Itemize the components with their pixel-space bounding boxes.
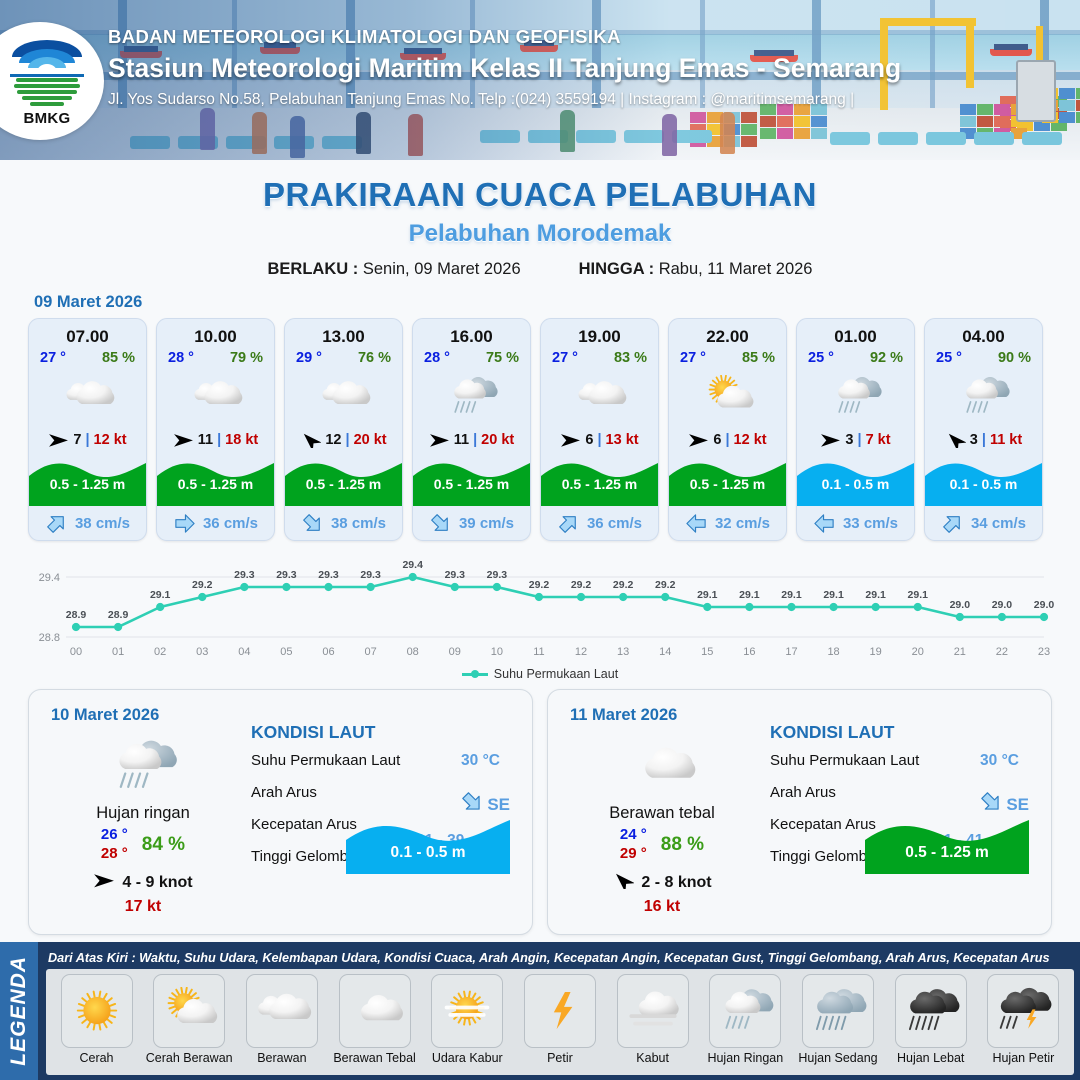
svg-text:29.2: 29.2 <box>192 579 213 591</box>
svg-text:29.0: 29.0 <box>992 599 1013 611</box>
legend-icon-box <box>431 974 503 1048</box>
svg-text:15: 15 <box>701 646 713 658</box>
wind-separator: | <box>982 432 986 448</box>
svg-text:01: 01 <box>112 646 124 658</box>
card-weather-icon <box>413 368 530 426</box>
card-wind: 12|20 kt <box>285 426 402 454</box>
legend-item-label: Kabut <box>636 1051 669 1065</box>
legend-icon-box <box>246 974 318 1048</box>
station-name: Stasiun Meteorologi Maritim Kelas II Tan… <box>108 53 901 84</box>
wind-separator: | <box>725 432 729 448</box>
legend-item-label: Hujan Sedang <box>798 1051 877 1065</box>
wind-direction-icon <box>429 432 450 448</box>
legend-item-label: Petir <box>547 1051 573 1065</box>
svg-text:05: 05 <box>280 646 292 658</box>
forecast-card: 07.0027 °85 %7|12 kt0.5 - 1.25 m38 cm/s <box>28 318 147 541</box>
current-speed: 34 cm/s <box>971 515 1026 532</box>
svg-text:29.0: 29.0 <box>1034 599 1055 611</box>
svg-text:29.2: 29.2 <box>571 579 592 591</box>
svg-text:21: 21 <box>954 646 966 658</box>
legend-item-label: Hujan Lebat <box>897 1051 964 1065</box>
current-speed: 32 cm/s <box>715 515 770 532</box>
forecast-card: 22.0027 °85 %6|12 kt0.5 - 1.25 m32 cm/s <box>668 318 787 541</box>
daily-forecast-row: 10 Maret 2026Hujan ringan26 °28 °84 %4 -… <box>0 681 1080 935</box>
legend-item: Berawan Tebal <box>330 974 419 1072</box>
page-subtitle: Pelabuhan Morodemak <box>0 220 1080 248</box>
svg-text:28.8: 28.8 <box>39 632 60 644</box>
current-speed: 38 cm/s <box>75 515 130 532</box>
card-time: 22.00 <box>669 319 786 347</box>
daily-wave-value: 0.5 - 1.25 m <box>865 844 1029 862</box>
svg-text:29.3: 29.3 <box>360 569 381 581</box>
legend-item: Hujan Lebat <box>886 974 975 1072</box>
legend-item: Hujan Sedang <box>794 974 883 1072</box>
legend-item: Udara Kabur <box>423 974 512 1072</box>
wind-direction-icon <box>820 432 841 448</box>
wind-gust: 7 kt <box>866 432 891 448</box>
card-values: 25 °92 % <box>797 347 914 366</box>
card-humidity: 92 % <box>870 350 903 366</box>
daily-temps: 24 °29 ° <box>620 826 647 864</box>
daily-condition: Hujan ringan <box>43 804 243 823</box>
card-wave: 0.5 - 1.25 m <box>157 454 274 506</box>
card-weather-icon <box>29 368 146 426</box>
legend-item: Petir <box>515 974 604 1072</box>
card-weather-icon <box>541 368 658 426</box>
legend-icon-box <box>895 974 967 1048</box>
legend-icon-box <box>153 974 225 1048</box>
legend-items: CerahCerah BerawanBerawanBerawan TebalUd… <box>46 969 1074 1075</box>
card-wind: 11|20 kt <box>413 426 530 454</box>
forecast-card: 13.0029 °76 %12|20 kt0.5 - 1.25 m38 cm/s <box>284 318 403 541</box>
daily-gust: 17 kt <box>43 898 243 916</box>
card-humidity: 75 % <box>486 350 519 366</box>
legend-note: Dari Atas Kiri : Waktu, Suhu Udara, Kele… <box>48 951 1074 965</box>
valid-to-label: HINGGA : <box>579 260 654 278</box>
svg-text:08: 08 <box>407 646 419 658</box>
daily-temp-humidity: 26 °28 °84 % <box>43 826 243 864</box>
current-direction-icon <box>429 512 453 534</box>
legend-item-label: Cerah <box>79 1051 113 1065</box>
svg-text:29.1: 29.1 <box>908 589 929 601</box>
wind-gust: 20 kt <box>481 432 514 448</box>
svg-text:28.9: 28.9 <box>66 609 87 621</box>
wave-height: 0.5 - 1.25 m <box>29 476 146 492</box>
wave-height: 0.5 - 1.25 m <box>413 476 530 492</box>
wind-gust: 18 kt <box>225 432 258 448</box>
svg-text:13: 13 <box>617 646 629 658</box>
validity-range: BERLAKU : Senin, 09 Maret 2026 HINGGA : … <box>0 260 1080 279</box>
wave-height: 0.5 - 1.25 m <box>157 476 274 492</box>
valid-from-label: BERLAKU : <box>268 260 359 278</box>
card-values: 27 °83 % <box>541 347 658 366</box>
daily-summary: Berawan tebal24 °29 °88 %2 - 8 knot16 kt <box>562 732 762 916</box>
wind-direction-icon <box>945 432 966 448</box>
forecast-card: 10.0028 °79 %11|18 kt0.5 - 1.25 m36 cm/s <box>156 318 275 541</box>
legend-item: Berawan <box>237 974 326 1072</box>
daily-weather-icon <box>562 732 762 802</box>
card-current: 38 cm/s <box>29 506 146 540</box>
card-wave: 0.5 - 1.25 m <box>541 454 658 506</box>
svg-text:12: 12 <box>575 646 587 658</box>
card-current: 38 cm/s <box>285 506 402 540</box>
wind-gust: 13 kt <box>606 432 639 448</box>
wind-gust: 12 kt <box>94 432 127 448</box>
logo-arcs-icon <box>12 40 82 74</box>
legend-section: LEGENDA Dari Atas Kiri : Waktu, Suhu Uda… <box>0 942 1080 1080</box>
legend-item: Hujan Ringan <box>701 974 790 1072</box>
current-direction-icon <box>45 512 69 534</box>
card-humidity: 83 % <box>614 350 647 366</box>
legend-icon-box <box>617 974 689 1048</box>
svg-text:20: 20 <box>912 646 924 658</box>
card-temperature: 27 ° <box>40 350 66 366</box>
svg-text:29.2: 29.2 <box>613 579 634 591</box>
card-values: 27 °85 % <box>669 347 786 366</box>
card-temperature: 25 ° <box>808 350 834 366</box>
legend-item-label: Berawan Tebal <box>333 1051 415 1065</box>
legend-band-label: LEGENDA <box>7 956 31 1066</box>
card-wind: 11|18 kt <box>157 426 274 454</box>
card-wind: 6|12 kt <box>669 426 786 454</box>
card-current: 33 cm/s <box>797 506 914 540</box>
svg-text:00: 00 <box>70 646 82 658</box>
card-time: 19.00 <box>541 319 658 347</box>
card-wind: 3|7 kt <box>797 426 914 454</box>
svg-text:02: 02 <box>154 646 166 658</box>
logo-layers-icon <box>14 78 80 108</box>
wave-height: 0.5 - 1.25 m <box>669 476 786 492</box>
legend-item-label: Cerah Berawan <box>146 1051 233 1065</box>
forecast-card: 04.0025 °90 %3|11 kt0.1 - 0.5 m34 cm/s <box>924 318 1043 541</box>
svg-text:10: 10 <box>491 646 503 658</box>
daily-panel: 10 Maret 2026Hujan ringan26 °28 °84 %4 -… <box>28 689 533 935</box>
wind-speed: 6 <box>713 432 721 448</box>
svg-text:17: 17 <box>785 646 797 658</box>
current-speed: 33 cm/s <box>843 515 898 532</box>
current-direction-row: Arah ArusSE <box>770 784 1035 816</box>
current-speed-label: Kecepatan Arus <box>770 816 876 833</box>
current-speed-label: Kecepatan Arus <box>251 816 357 833</box>
wind-direction-icon <box>560 432 581 448</box>
card-weather-icon <box>669 368 786 426</box>
wind-separator: | <box>346 432 350 448</box>
card-wind: 6|13 kt <box>541 426 658 454</box>
svg-text:29.0: 29.0 <box>950 599 971 611</box>
daily-wind: 4 - 9 knot <box>43 872 243 895</box>
current-direction-icon <box>941 512 965 534</box>
legend-item: Hujan Petir <box>979 974 1068 1072</box>
svg-text:16: 16 <box>743 646 755 658</box>
svg-text:29.1: 29.1 <box>697 589 718 601</box>
daily-wave-value: 0.1 - 0.5 m <box>346 844 510 862</box>
svg-text:29.4: 29.4 <box>402 559 423 571</box>
daily-humidity: 84 % <box>142 834 185 856</box>
current-direction-icon <box>301 512 325 534</box>
daily-gust: 16 kt <box>562 898 762 916</box>
wave-height: 0.5 - 1.25 m <box>285 476 402 492</box>
daily-summary: Hujan ringan26 °28 °84 %4 - 9 knot17 kt <box>43 732 243 916</box>
daily-date: 11 Maret 2026 <box>570 706 677 725</box>
svg-text:06: 06 <box>322 646 334 658</box>
svg-text:29.4: 29.4 <box>39 572 60 584</box>
forecast-card: 19.0027 °83 %6|13 kt0.5 - 1.25 m36 cm/s <box>540 318 659 541</box>
svg-text:29.3: 29.3 <box>318 569 339 581</box>
chart-legend: Suhu Permukaan Laut <box>0 667 1080 681</box>
chart-legend-label: Suhu Permukaan Laut <box>494 667 618 681</box>
current-speed: 36 cm/s <box>587 515 642 532</box>
valid-from-value: Senin, 09 Maret 2026 <box>363 260 521 278</box>
daily-wind-direction-icon <box>93 872 115 895</box>
sst-row: Suhu Permukaan Laut30 °C <box>770 752 1035 784</box>
wind-speed: 3 <box>845 432 853 448</box>
svg-text:18: 18 <box>827 646 839 658</box>
card-weather-icon <box>285 368 402 426</box>
daily-wind-direction-icon <box>612 872 634 895</box>
logo-text: BMKG <box>8 110 86 127</box>
legend-icon-box <box>61 974 133 1048</box>
wind-separator: | <box>473 432 477 448</box>
card-time: 04.00 <box>925 319 1042 347</box>
legend-item: Cerah Berawan <box>145 974 234 1072</box>
legend-icon-box <box>987 974 1059 1048</box>
daily-humidity: 88 % <box>661 834 704 856</box>
legend-icon-box <box>524 974 596 1048</box>
svg-text:29.3: 29.3 <box>234 569 255 581</box>
card-humidity: 90 % <box>998 350 1031 366</box>
svg-text:09: 09 <box>449 646 461 658</box>
sea-conditions: KONDISI LAUTSuhu Permukaan Laut30 °CArah… <box>251 722 516 880</box>
daily-wave-box: 0.5 - 1.25 m <box>865 814 1029 874</box>
svg-text:04: 04 <box>238 646 250 658</box>
chart-legend-marker-icon <box>462 669 488 679</box>
svg-text:29.2: 29.2 <box>655 579 676 591</box>
valid-to: HINGGA : Rabu, 11 Maret 2026 <box>579 260 813 279</box>
svg-text:11: 11 <box>533 646 544 658</box>
card-weather-icon <box>797 368 914 426</box>
card-values: 28 °75 % <box>413 347 530 366</box>
sst-label: Suhu Permukaan Laut <box>251 752 400 769</box>
svg-text:29.1: 29.1 <box>150 589 171 601</box>
current-direction-icon <box>813 512 837 534</box>
card-current: 32 cm/s <box>669 506 786 540</box>
current-speed: 36 cm/s <box>203 515 258 532</box>
current-speed: 38 cm/s <box>331 515 386 532</box>
wind-gust: 12 kt <box>734 432 767 448</box>
current-direction-icon <box>173 512 197 534</box>
card-temperature: 27 ° <box>680 350 706 366</box>
wind-separator: | <box>217 432 221 448</box>
card-weather-icon <box>157 368 274 426</box>
legend-item-label: Hujan Ringan <box>707 1051 783 1065</box>
card-values: 25 °90 % <box>925 347 1042 366</box>
card-humidity: 76 % <box>358 350 391 366</box>
wind-speed: 11 <box>454 432 469 448</box>
svg-text:29.3: 29.3 <box>445 569 466 581</box>
card-values: 27 °85 % <box>29 347 146 366</box>
card-temperature: 27 ° <box>552 350 578 366</box>
wind-separator: | <box>85 432 89 448</box>
daily-wave-box: 0.1 - 0.5 m <box>346 814 510 874</box>
card-time: 10.00 <box>157 319 274 347</box>
wave-height: 0.1 - 0.5 m <box>797 476 914 492</box>
card-wind: 7|12 kt <box>29 426 146 454</box>
legend-icon-box <box>802 974 874 1048</box>
card-current: 36 cm/s <box>541 506 658 540</box>
legend-icon-box <box>709 974 781 1048</box>
wind-direction-icon <box>173 432 194 448</box>
wind-direction-icon <box>48 432 69 448</box>
sea-conditions-title: KONDISI LAUT <box>251 722 516 743</box>
sst-label: Suhu Permukaan Laut <box>770 752 919 769</box>
svg-text:29.3: 29.3 <box>276 569 297 581</box>
svg-text:07: 07 <box>364 646 376 658</box>
card-wave: 0.1 - 0.5 m <box>797 454 914 506</box>
card-wave: 0.5 - 1.25 m <box>285 454 402 506</box>
card-wave: 0.5 - 1.25 m <box>29 454 146 506</box>
daily-temps: 26 °28 ° <box>101 826 128 864</box>
daily-temp-max: 28 ° <box>101 845 128 864</box>
current-direction-text: SE <box>1006 795 1029 815</box>
legend-icon-box <box>339 974 411 1048</box>
svg-text:29.1: 29.1 <box>739 589 760 601</box>
card-current: 36 cm/s <box>157 506 274 540</box>
daily-wind-speed: 4 - 9 knot <box>122 874 192 892</box>
daily-temp-humidity: 24 °29 °88 % <box>562 826 762 864</box>
card-temperature: 25 ° <box>936 350 962 366</box>
hourly-date-label: 09 Maret 2026 <box>34 293 1080 312</box>
page-title: PRAKIRAAN CUACA PELABUHAN <box>0 176 1080 214</box>
svg-text:03: 03 <box>196 646 208 658</box>
daily-wind: 2 - 8 knot <box>562 872 762 895</box>
valid-from: BERLAKU : Senin, 09 Maret 2026 <box>268 260 521 279</box>
card-time: 07.00 <box>29 319 146 347</box>
current-speed: 39 cm/s <box>459 515 514 532</box>
card-temperature: 28 ° <box>168 350 194 366</box>
daily-panel: 11 Maret 2026Berawan tebal24 °29 °88 %2 … <box>547 689 1052 935</box>
header-text-block: BADAN METEOROLOGI KLIMATOLOGI DAN GEOFIS… <box>108 26 901 109</box>
legend-body: Dari Atas Kiri : Waktu, Suhu Udara, Kele… <box>38 942 1080 1080</box>
daily-condition: Berawan tebal <box>562 804 762 823</box>
sst-value: 30 °C <box>980 752 1019 770</box>
card-wave: 0.1 - 0.5 m <box>925 454 1042 506</box>
current-direction-label: Arah Arus <box>770 784 836 801</box>
legend-item-label: Hujan Petir <box>992 1051 1054 1065</box>
current-direction-icon <box>557 512 581 534</box>
svg-text:29.1: 29.1 <box>781 589 802 601</box>
legend-item: Cerah <box>52 974 141 1072</box>
svg-text:29.1: 29.1 <box>823 589 844 601</box>
card-time: 01.00 <box>797 319 914 347</box>
wind-speed: 12 <box>325 432 341 448</box>
logo-divider <box>10 74 84 77</box>
wave-height: 0.5 - 1.25 m <box>541 476 658 492</box>
card-wind: 3|11 kt <box>925 426 1042 454</box>
forecast-card: 01.0025 °92 %3|7 kt0.1 - 0.5 m33 cm/s <box>796 318 915 541</box>
title-block: PRAKIRAAN CUACA PELABUHAN Pelabuhan Moro… <box>0 160 1080 279</box>
wave-height: 0.1 - 0.5 m <box>925 476 1042 492</box>
sea-conditions-title: KONDISI LAUT <box>770 722 1035 743</box>
current-direction-row: Arah ArusSE <box>251 784 516 816</box>
daily-temp-max: 29 ° <box>620 845 647 864</box>
card-wave: 0.5 - 1.25 m <box>413 454 530 506</box>
legend-item-label: Udara Kabur <box>432 1051 503 1065</box>
current-direction-text: SE <box>487 795 510 815</box>
current-direction-label: Arah Arus <box>251 784 317 801</box>
card-temperature: 29 ° <box>296 350 322 366</box>
contact-line: Jl. Yos Sudarso No.58, Pelabuhan Tanjung… <box>108 91 901 109</box>
card-temperature: 28 ° <box>424 350 450 366</box>
wind-speed: 7 <box>73 432 81 448</box>
current-direction-icon <box>685 512 709 534</box>
card-humidity: 85 % <box>102 350 135 366</box>
daily-date: 10 Maret 2026 <box>51 706 159 725</box>
svg-text:22: 22 <box>996 646 1008 658</box>
card-wave: 0.5 - 1.25 m <box>669 454 786 506</box>
org-name: BADAN METEOROLOGI KLIMATOLOGI DAN GEOFIS… <box>108 26 901 48</box>
forecast-card: 16.0028 °75 %11|20 kt0.5 - 1.25 m39 cm/s <box>412 318 531 541</box>
sst-chart: 29.428.828.90028.90129.10229.20329.30429… <box>18 555 1062 665</box>
card-current: 39 cm/s <box>413 506 530 540</box>
legend-item-label: Berawan <box>257 1051 306 1065</box>
wind-direction-icon <box>688 432 709 448</box>
valid-to-value: Rabu, 11 Maret 2026 <box>659 260 813 278</box>
card-values: 28 °79 % <box>157 347 274 366</box>
page-header: BMKG BADAN METEOROLOGI KLIMATOLOGI DAN G… <box>0 0 1080 160</box>
svg-text:29.2: 29.2 <box>529 579 550 591</box>
card-time: 13.00 <box>285 319 402 347</box>
card-values: 29 °76 % <box>285 347 402 366</box>
card-humidity: 85 % <box>742 350 775 366</box>
wind-direction-icon <box>300 432 321 448</box>
daily-temp-min: 26 ° <box>101 826 128 845</box>
sst-row: Suhu Permukaan Laut30 °C <box>251 752 516 784</box>
svg-text:28.9: 28.9 <box>108 609 129 621</box>
svg-text:19: 19 <box>870 646 882 658</box>
daily-temp-min: 24 ° <box>620 826 647 845</box>
svg-text:29.1: 29.1 <box>865 589 886 601</box>
sst-value: 30 °C <box>461 752 500 770</box>
daily-wind-speed: 2 - 8 knot <box>641 874 711 892</box>
wind-separator: | <box>597 432 601 448</box>
legend-item: Kabut <box>608 974 697 1072</box>
card-weather-icon <box>925 368 1042 426</box>
svg-text:23: 23 <box>1038 646 1050 658</box>
wind-speed: 11 <box>198 432 213 448</box>
card-time: 16.00 <box>413 319 530 347</box>
sea-conditions: KONDISI LAUTSuhu Permukaan Laut30 °CArah… <box>770 722 1035 880</box>
svg-text:29.3: 29.3 <box>487 569 508 581</box>
legend-band: LEGENDA <box>0 942 38 1080</box>
card-humidity: 79 % <box>230 350 263 366</box>
wind-separator: | <box>858 432 862 448</box>
wind-speed: 6 <box>585 432 593 448</box>
wind-gust: 11 kt <box>990 432 1022 448</box>
card-current: 34 cm/s <box>925 506 1042 540</box>
daily-weather-icon <box>43 732 243 802</box>
svg-text:14: 14 <box>659 646 671 658</box>
wind-speed: 3 <box>970 432 978 448</box>
hourly-forecast-row: 07.0027 °85 %7|12 kt0.5 - 1.25 m38 cm/s1… <box>0 318 1080 541</box>
wind-gust: 20 kt <box>354 432 387 448</box>
